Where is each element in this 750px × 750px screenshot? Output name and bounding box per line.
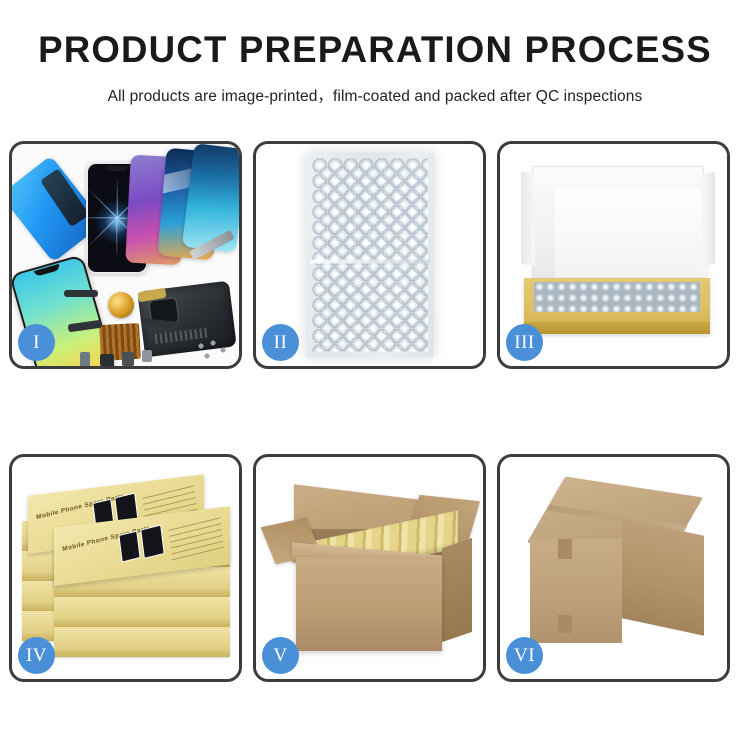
small-component-icon	[100, 354, 114, 366]
carton-side-panel	[622, 518, 704, 635]
process-step-panel-4: Mobile Phone Spare Parts Mobile Phone Sp…	[9, 454, 242, 682]
step-badge-3: III	[506, 324, 543, 361]
carton-tape-top	[558, 539, 572, 559]
page-title: PRODUCT PREPARATION PROCESS	[4, 30, 747, 71]
carton-side-panel	[442, 538, 472, 642]
open-flat-box-icon	[518, 166, 714, 338]
process-step-panel-2: II	[253, 141, 486, 369]
box-lid	[532, 166, 704, 284]
burst-ray	[116, 218, 117, 260]
burst-ray	[116, 176, 117, 218]
stacked-box	[54, 597, 230, 627]
box-tray	[524, 278, 710, 334]
box-edge	[54, 590, 230, 597]
process-step-panel-1: I	[9, 141, 242, 369]
small-component-icon	[122, 352, 134, 366]
process-step-panel-6: VI	[497, 454, 730, 682]
box-spec-lines	[168, 514, 224, 560]
step-badge-2: II	[262, 324, 299, 361]
open-shipping-carton-icon	[266, 483, 478, 659]
box-product-photo	[118, 531, 140, 563]
bubble-wrap-package-icon	[306, 153, 434, 358]
tray-front-lip	[524, 322, 710, 334]
carton-front-panel	[296, 557, 442, 651]
small-component-icon	[142, 350, 152, 362]
step-badge-6: VI	[506, 637, 543, 674]
step-badge-5: V	[262, 637, 299, 674]
flex-cable-icon	[64, 290, 98, 297]
step-badge-1: I	[18, 324, 55, 361]
box-edge	[54, 650, 230, 657]
page-subtitle: All products are image-printed，film-coat…	[0, 84, 750, 106]
stacked-retail-boxes-icon: Mobile Phone Spare Parts Mobile Phone Sp…	[18, 477, 234, 667]
process-step-grid: I II III	[9, 141, 741, 741]
burst-ray	[86, 217, 117, 218]
stacked-box	[54, 627, 230, 657]
process-step-panel-3: III	[497, 141, 730, 369]
box-product-photo	[140, 524, 164, 558]
foam-insert-icon	[555, 189, 709, 277]
wrap-seam	[310, 259, 430, 263]
box-edge	[54, 620, 230, 627]
process-step-panel-5: V	[253, 454, 486, 682]
carton-tape-bottom	[558, 615, 572, 633]
page-header: PRODUCT PREPARATION PROCESS All products…	[0, 0, 750, 106]
small-component-icon	[80, 352, 90, 366]
bubble-wrapped-contents-icon	[534, 282, 700, 312]
sealed-shipping-carton-icon	[522, 487, 714, 655]
carton-front-panel	[530, 539, 622, 643]
screws-icon	[195, 340, 229, 362]
copper-coil-icon	[108, 292, 134, 318]
step-badge-4: IV	[18, 637, 55, 674]
